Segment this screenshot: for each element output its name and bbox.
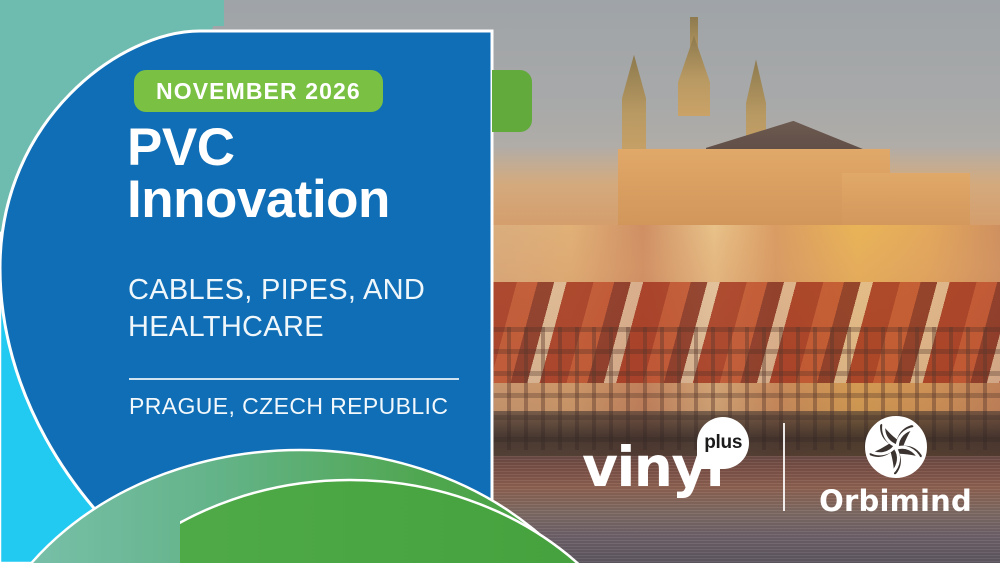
date-badge-tail (492, 70, 532, 132)
logo-separator (783, 423, 785, 511)
orbimind-wordmark: Orbimind (819, 484, 972, 518)
subtitle-line-1: CABLES, PIPES, AND (128, 274, 425, 306)
vinylplus-logo: vinyl plus (582, 440, 749, 495)
subtitle-line-2: HEALTHCARE (128, 309, 425, 346)
event-banner: NOVEMBER 2026 PVC Innovation CABLES, PIP… (0, 0, 1000, 563)
location-label: PRAGUE, CZECH REPUBLIC (129, 393, 448, 420)
headline-line-2: Innovation (127, 174, 390, 226)
plus-badge-label: plus (704, 432, 742, 454)
subtitle: CABLES, PIPES, AND HEALTHCARE (128, 272, 425, 346)
date-badge-label: NOVEMBER 2026 (156, 78, 361, 105)
date-badge: NOVEMBER 2026 (134, 70, 383, 112)
logo-lockup-row: vinyl plus (582, 416, 972, 518)
text-divider-rule (129, 378, 459, 380)
page-title: PVC Innovation (127, 122, 390, 227)
orbimind-spiral-icon (865, 416, 927, 478)
orbimind-logo: Orbimind (819, 416, 972, 518)
headline-line-1: PVC (127, 118, 234, 177)
plus-badge-icon: plus (697, 417, 749, 469)
